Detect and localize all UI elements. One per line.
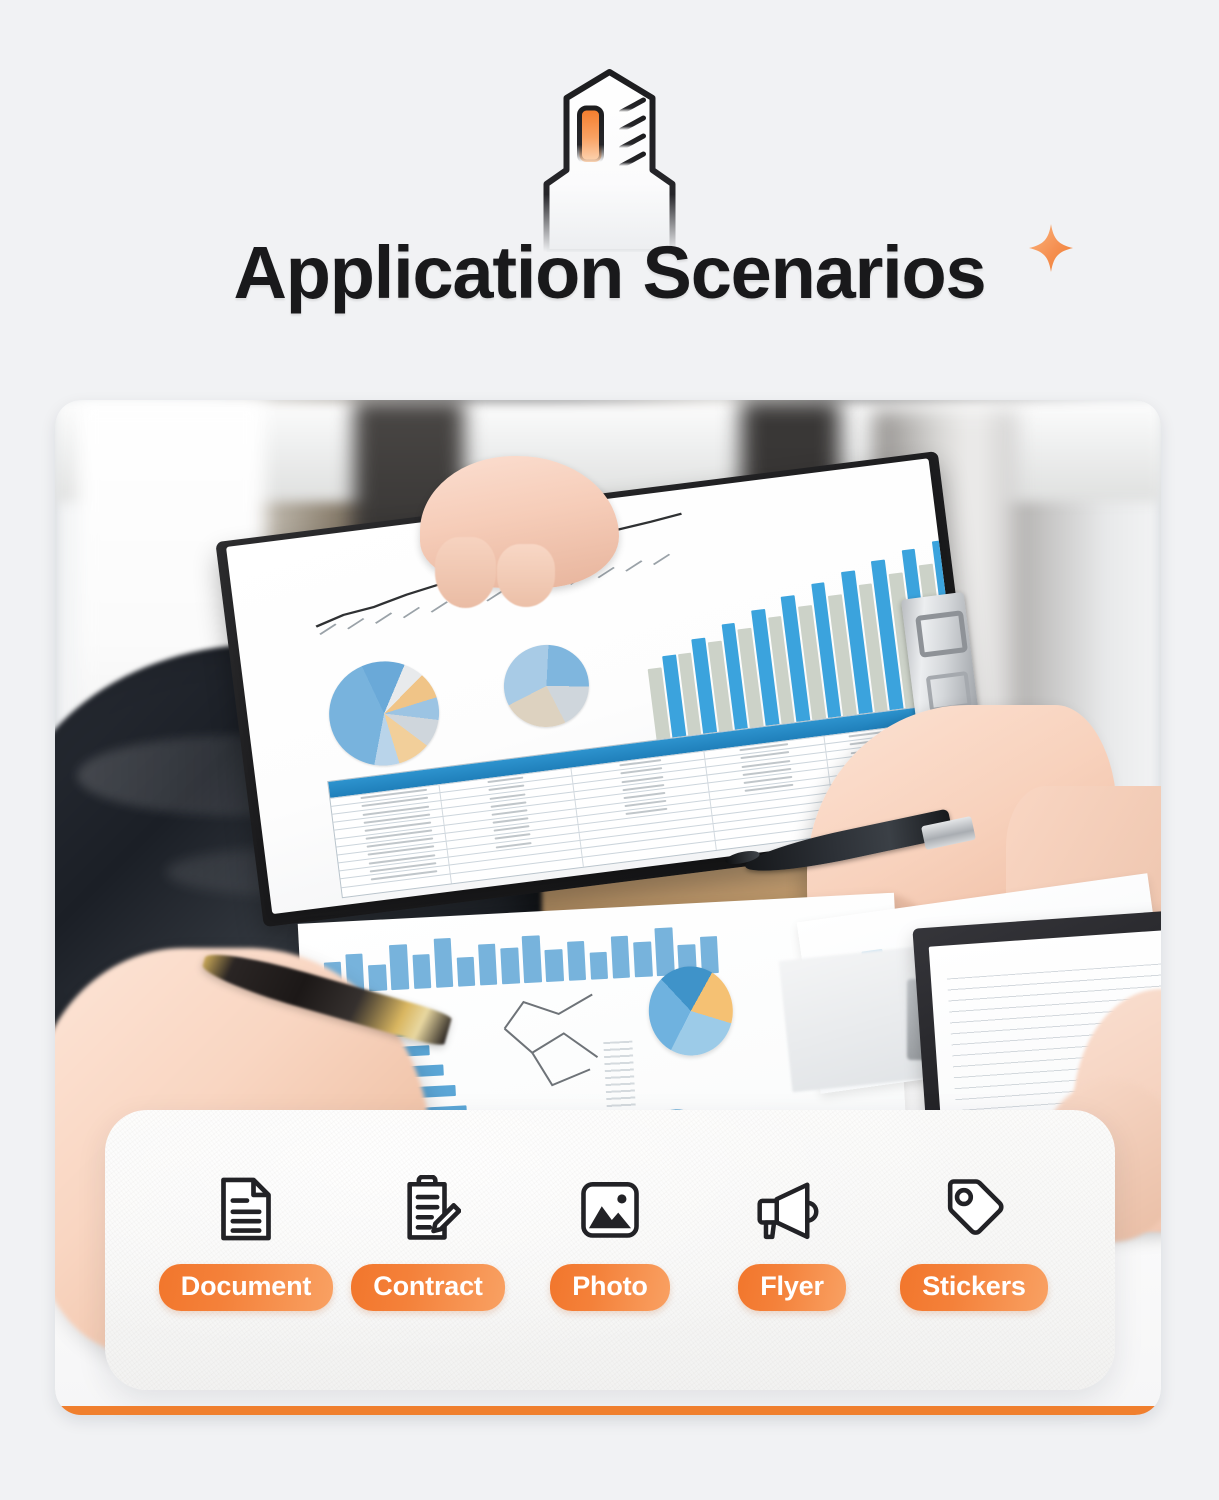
category-item-flyer[interactable]: Flyer [701, 1168, 883, 1311]
category-label-contract[interactable]: Contract [351, 1264, 504, 1311]
pie-chart [500, 640, 594, 732]
category-label-photo[interactable]: Photo [550, 1264, 669, 1311]
category-label-document[interactable]: Document [159, 1264, 333, 1311]
category-label-stickers[interactable]: Stickers [900, 1264, 1047, 1311]
sparkle-star-icon [1027, 222, 1075, 274]
category-item-document[interactable]: Document [155, 1168, 337, 1311]
category-label-flyer[interactable]: Flyer [738, 1264, 846, 1311]
price-tag-icon [936, 1168, 1012, 1250]
pie-chart [324, 656, 446, 773]
category-item-contract[interactable]: Contract [337, 1168, 519, 1311]
categories-card: Document [105, 1110, 1115, 1390]
categories-row: Document [105, 1168, 1115, 1311]
document-page-icon [208, 1168, 284, 1250]
building-skyscraper-icon [502, 62, 717, 252]
clipboard-pencil-icon [390, 1168, 466, 1250]
page-title-text: Application Scenarios [234, 236, 986, 310]
megaphone-icon [754, 1168, 830, 1250]
image-picture-icon [572, 1168, 648, 1250]
header: Application Scenarios [0, 0, 1219, 390]
page-root: Application Scenarios [0, 0, 1219, 1500]
category-item-photo[interactable]: Photo [519, 1168, 701, 1311]
category-item-stickers[interactable]: Stickers [883, 1168, 1065, 1311]
pie-chart [647, 963, 735, 1057]
